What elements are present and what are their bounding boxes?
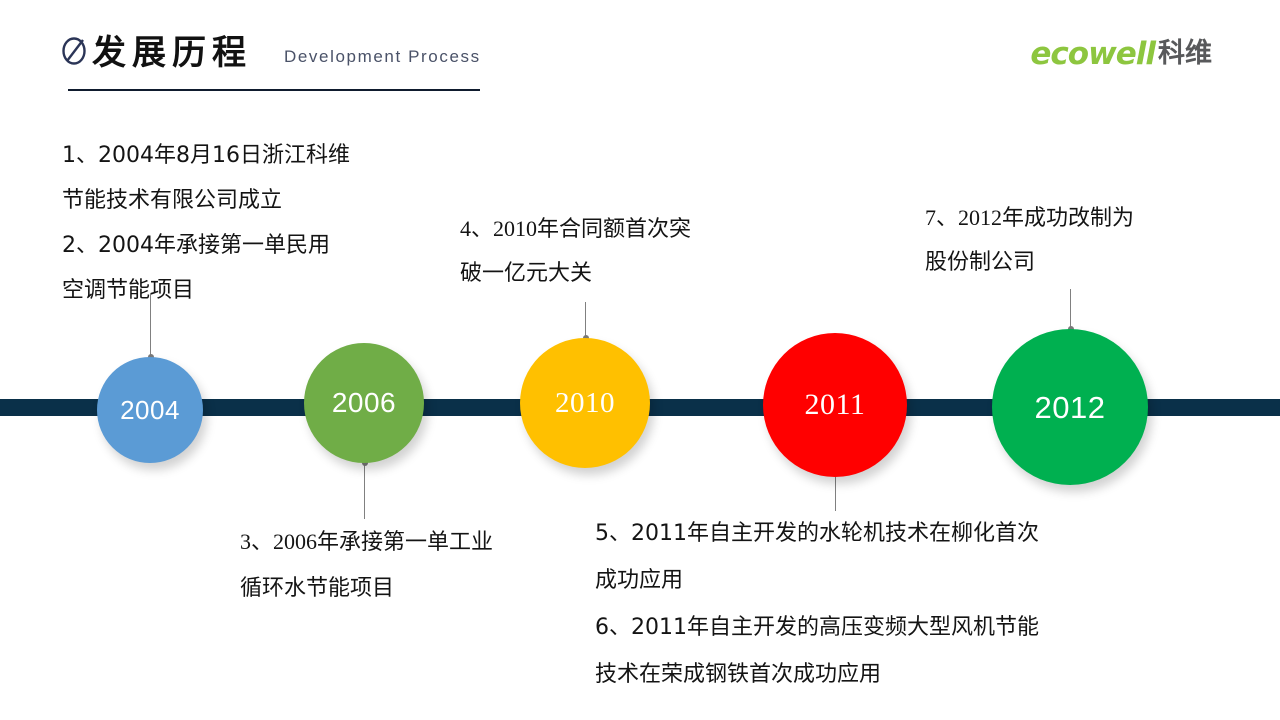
connector-line-2006 (364, 463, 365, 519)
milestone-6-line1: 6、2011年自主开发的高压变频大型风机节能 (595, 604, 1039, 651)
milestone-6-line2: 技术在荣成钢铁首次成功应用 (595, 651, 1039, 698)
logo-wordmark: ecowell (1030, 37, 1155, 71)
milestone-text-2011: 5、2011年自主开发的水轮机技术在柳化首次 成功应用 6、2011年自主开发的… (595, 510, 1039, 698)
milestone-text-2006: 3、2006年承接第一单工业 循环水节能项目 (240, 518, 493, 612)
logo-chinese-name: 科维 (1158, 37, 1212, 71)
brand-logo: ecowell 科维 (1030, 36, 1212, 72)
milestone-7-line2: 股份制公司 (925, 240, 1134, 285)
milestone-1-line1: 1、2004年8月16日浙江科维 (62, 133, 350, 178)
timeline-node-label: 2012 (1035, 392, 1106, 423)
milestone-text-2012: 7、2012年成功改制为 股份制公司 (925, 195, 1134, 285)
timeline-node-2011[interactable]: 2011 (763, 333, 907, 477)
milestone-4-line2: 破一亿元大关 (460, 251, 691, 296)
page-subtitle: Development Process (284, 46, 481, 68)
title-divider (68, 89, 480, 91)
milestone-text-2004: 1、2004年8月16日浙江科维 节能技术有限公司成立 2、2004年承接第一单… (62, 133, 350, 313)
milestone-1-line2: 节能技术有限公司成立 (62, 178, 350, 223)
timeline-node-2006[interactable]: 2006 (304, 343, 424, 463)
milestone-4-line1: 4、2010年合同额首次突 (460, 206, 691, 251)
timeline-node-label: 2011 (805, 390, 866, 420)
milestone-5-line1: 5、2011年自主开发的水轮机技术在柳化首次 (595, 510, 1039, 557)
timeline-node-label: 2006 (332, 389, 396, 417)
milestone-text-2010: 4、2010年合同额首次突 破一亿元大关 (460, 206, 691, 296)
milestone-3-line1: 3、2006年承接第一单工业 (240, 518, 493, 565)
page-title: 发展历程 (92, 33, 252, 73)
timeline-node-2010[interactable]: 2010 (520, 338, 650, 468)
milestone-2-line2: 空调节能项目 (62, 268, 350, 313)
connector-line-2010 (585, 302, 586, 338)
slashed-circle-icon (60, 36, 90, 66)
timeline-node-label: 2004 (120, 397, 180, 423)
timeline-node-label: 2010 (555, 389, 615, 418)
milestone-2-line1: 2、2004年承接第一单民用 (62, 223, 350, 268)
milestone-7-line1: 7、2012年成功改制为 (925, 195, 1134, 240)
slide-header: 发展历程 Development Process ecowell 科维 (0, 0, 1280, 110)
timeline-node-2012[interactable]: 2012 (992, 329, 1148, 485)
slide-canvas: 发展历程 Development Process ecowell 科维 2004… (0, 0, 1280, 720)
milestone-3-line2: 循环水节能项目 (240, 565, 493, 612)
connector-line-2012-top (1070, 289, 1071, 329)
milestone-5-line2: 成功应用 (595, 557, 1039, 604)
connector-line-2004 (150, 293, 151, 357)
timeline-node-2004[interactable]: 2004 (97, 357, 203, 463)
